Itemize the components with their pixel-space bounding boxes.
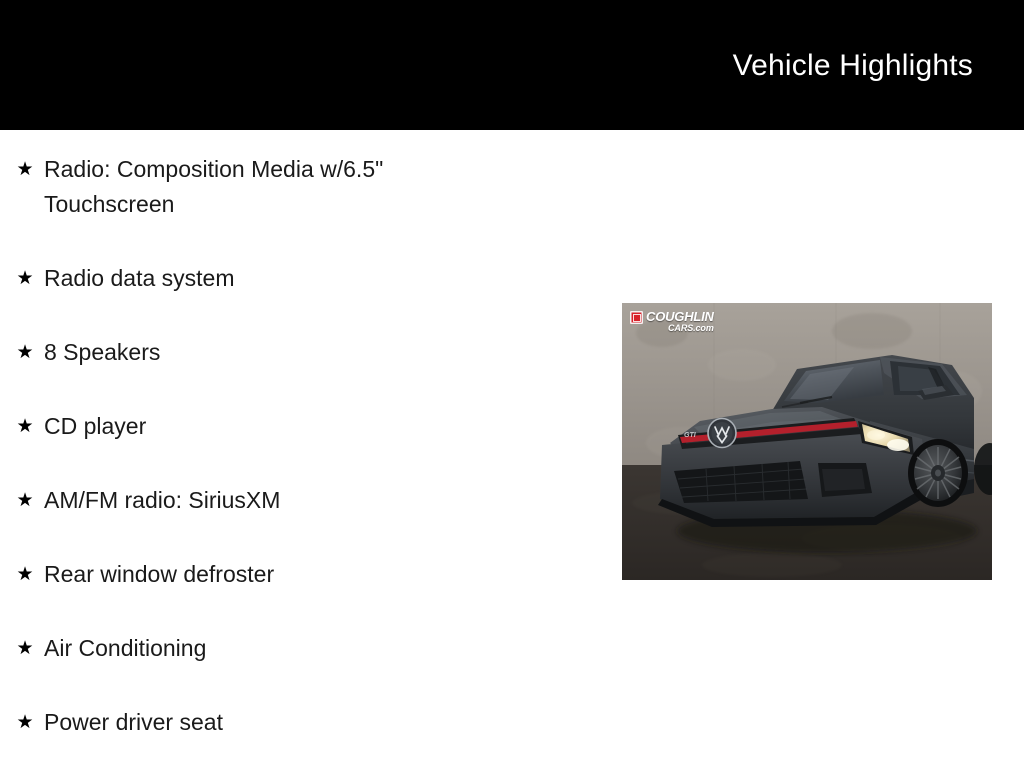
content-area: ★ Radio: Composition Media w/6.5" Touchs… <box>0 130 1024 768</box>
star-icon: ★ <box>10 631 40 666</box>
star-icon: ★ <box>10 152 40 187</box>
svg-text:GTI: GTI <box>684 432 697 439</box>
list-item-label: Air Conditioning <box>40 631 499 666</box>
star-icon: ★ <box>10 261 40 296</box>
list-item: ★ Radio: Composition Media w/6.5" Touchs… <box>0 152 560 222</box>
list-item-label: CD player <box>40 409 499 444</box>
list-item: ★ Rear window defroster <box>0 557 560 592</box>
star-icon: ★ <box>10 409 40 444</box>
star-icon: ★ <box>10 705 40 740</box>
list-item: ★ AM/FM radio: SiriusXM <box>0 483 560 518</box>
page-title: Vehicle Highlights <box>733 48 973 84</box>
list-item: ★ Air Conditioning <box>0 631 560 666</box>
header-bar: Vehicle Highlights <box>0 0 1024 130</box>
list-item-label: AM/FM radio: SiriusXM <box>40 483 499 518</box>
list-item: ★ Radio data system <box>0 261 560 296</box>
list-item-label: Rear window defroster <box>40 557 499 592</box>
star-icon: ★ <box>10 335 40 370</box>
vehicle-highlights-list: ★ Radio: Composition Media w/6.5" Touchs… <box>0 152 560 740</box>
list-item-label: Radio: Composition Media w/6.5" Touchscr… <box>40 152 499 222</box>
vehicle-photo: GTI <box>622 303 992 580</box>
list-item-label: Radio data system <box>40 261 499 296</box>
list-item-label: 8 Speakers <box>40 335 499 370</box>
list-item-label: Power driver seat <box>40 705 499 740</box>
vehicle-photo-image: GTI <box>622 303 992 580</box>
list-item: ★ Power driver seat <box>0 705 560 740</box>
star-icon: ★ <box>10 557 40 592</box>
list-item: ★ CD player <box>0 409 560 444</box>
star-icon: ★ <box>10 483 40 518</box>
list-item: ★ 8 Speakers <box>0 335 560 370</box>
